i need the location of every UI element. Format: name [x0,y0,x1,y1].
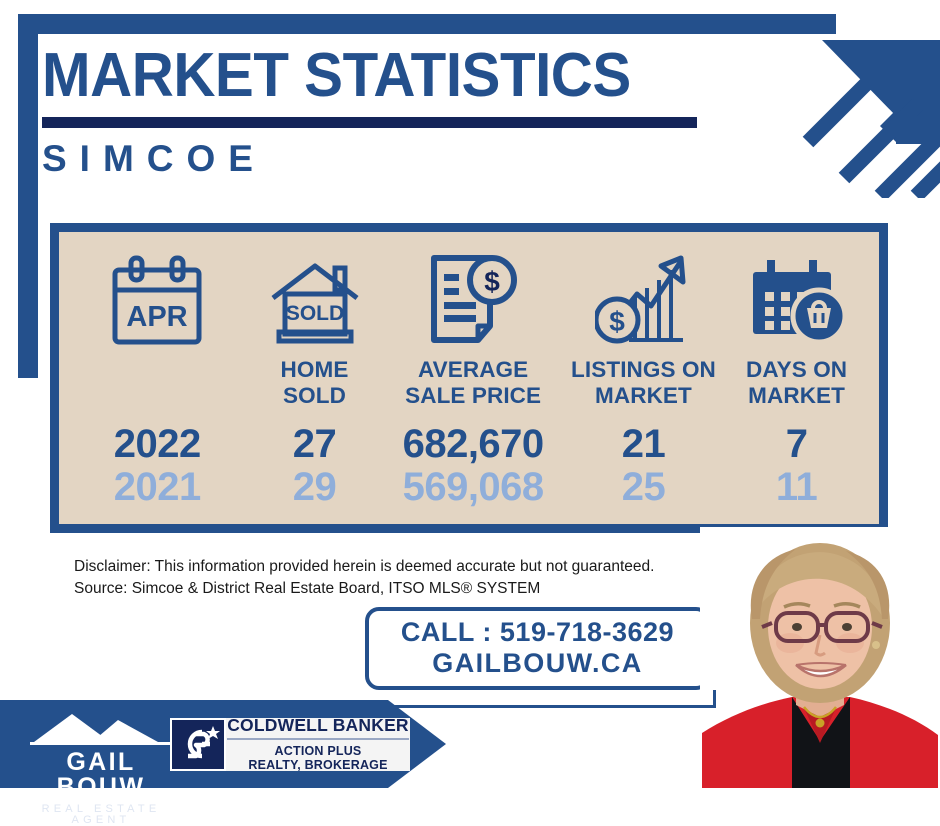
chevron-arrow-icon [800,38,940,198]
stat-column-listings-on-market: $ LISTINGS ON MARKET 21 25 [563,244,724,516]
calendar-basket-icon [747,244,847,348]
dollar-sign-glyph: $ [484,266,500,297]
stat-label-average-sale-price: AVERAGE SALE PRICE [405,357,541,410]
dollar-sign-glyph: $ [610,306,626,337]
title-underline-rule [42,117,697,128]
disclaimer-line-1: Disclaimer: This information provided he… [74,556,734,578]
contact-cta-box[interactable]: CALL : 519-718-3629 GAILBOUW.CA [365,607,710,690]
stat-values-home-sold: 27 29 [246,423,384,516]
agent-name: GAIL BOUW [26,750,176,800]
stat-values-average-sale-price: 682,670 569,068 [383,423,562,516]
disclaimer: Disclaimer: This information provided he… [74,556,734,601]
stat-value-current: 21 [563,423,724,465]
growth-chart-dollar-icon: $ [595,244,691,348]
year-prior-label: 2021 [69,466,246,508]
title-block: MARKET STATISTICS SIMCOE [42,44,782,177]
stat-value-current: 7 [724,423,869,465]
stats-panel: APR 2022 2021 SOLD HOME SOLD [50,223,888,533]
agent-headshot-photo [700,527,940,788]
mountains-icon [26,712,176,748]
stat-column-days-on-market: DAYS ON MARKET 7 11 [724,244,869,516]
year-current-label: 2022 [69,423,246,465]
page-subtitle: SIMCOE [42,140,782,177]
stat-values-days-on-market: 7 11 [724,423,869,516]
website-link[interactable]: GAILBOUW.CA [432,648,642,679]
stat-column-average-sale-price: $ AVERAGE SALE PRICE 682,670 569,068 [383,244,562,516]
calendar-month-icon: APR [109,244,205,348]
page-title: MARKET STATISTICS [42,44,738,107]
disclaimer-line-2: Source: Simcoe & District Real Estate Bo… [74,578,734,600]
brokerage-line-2: REALTY, BROKERAGE [248,758,387,772]
banner-rule-tick [713,690,716,708]
phone-number-link[interactable]: CALL : 519-718-3629 [401,618,674,648]
house-sold-icon: SOLD [269,244,361,348]
brokerage-line-1: ACTION PLUS [275,744,362,758]
stat-values-month: 2022 2021 [69,423,246,516]
stat-label-listings-on-market: LISTINGS ON MARKET [571,357,716,410]
stat-value-prior: 569,068 [383,466,562,508]
stats-grid: APR 2022 2021 SOLD HOME SOLD [59,232,879,524]
calendar-month-text: APR [127,301,188,333]
agent-logo: GAIL BOUW REAL ESTATE AGENT [26,712,176,826]
stat-values-listings-on-market: 21 25 [563,423,724,516]
stat-label-days-on-market: DAYS ON MARKET [746,357,847,410]
stat-value-current: 682,670 [383,423,562,465]
coldwell-banker-logo-icon [170,718,226,771]
stat-value-prior: 25 [563,466,724,508]
agent-role: REAL ESTATE AGENT [26,804,176,826]
frame-top-bar [18,14,836,34]
document-dollar-icon: $ [428,244,518,348]
brokerage-brand: COLDWELL BANKER [227,717,409,740]
house-sold-badge-text: SOLD [285,302,343,325]
stat-value-prior: 29 [246,466,384,508]
stat-label-home-sold: HOME SOLD [281,357,349,410]
stat-value-current: 27 [246,423,384,465]
stat-column-home-sold: SOLD HOME SOLD 27 29 [246,244,384,516]
stat-column-month: APR 2022 2021 [69,244,246,516]
frame-left-bar [18,14,38,378]
stat-value-prior: 11 [724,466,869,508]
coldwell-banker-wordmark: COLDWELL BANKER ACTION PLUS REALTY, BROK… [226,718,410,771]
